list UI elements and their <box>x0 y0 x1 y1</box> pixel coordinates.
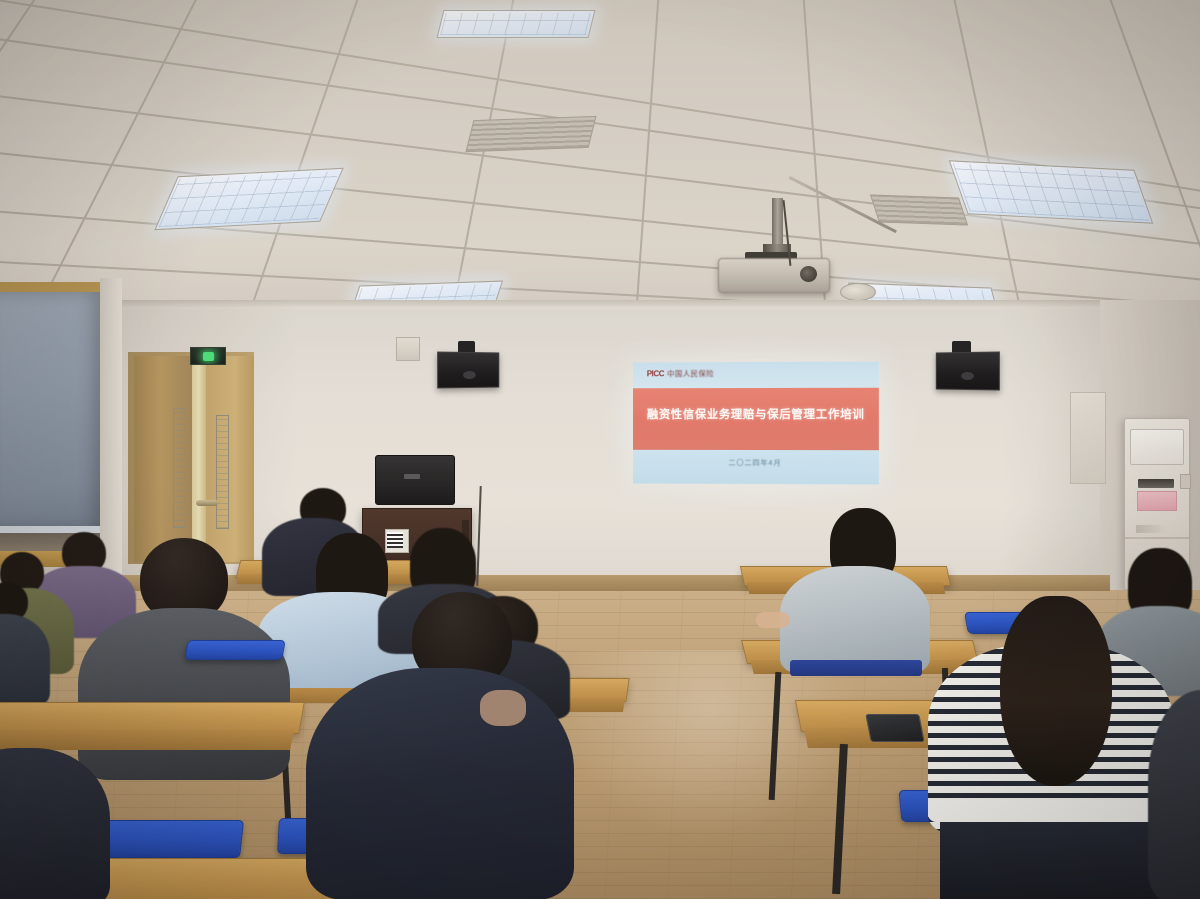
wall-panel-right <box>1070 392 1106 484</box>
air-conditioner-display <box>1138 479 1174 488</box>
smoke-detector-icon <box>840 283 876 301</box>
hair <box>1000 596 1112 786</box>
qr-code-icon <box>387 532 403 548</box>
lectern-monitor <box>375 455 455 505</box>
ceiling-light-panel-5 <box>437 10 596 38</box>
picc-logo-text: 中国人民保险 <box>667 368 714 379</box>
emergency-exit-sign-icon <box>190 347 226 365</box>
picc-logo-mark: PICC <box>647 369 664 378</box>
ceiling-vent-1 <box>870 194 968 225</box>
wall-speaker-left <box>437 352 499 389</box>
door-glass-panel-right <box>216 415 229 529</box>
door-handle[interactable] <box>196 500 218 506</box>
monitor-logo <box>404 474 420 479</box>
torso <box>780 566 930 674</box>
torso <box>78 608 290 780</box>
ear-neck <box>480 690 526 726</box>
chair-behind <box>790 660 922 676</box>
door-glass-panel-left <box>173 408 186 528</box>
projection-screen-slide: PICC 中国人民保险 融资性信保业务理赔与保后管理工作培训 二〇二四年4月 <box>633 362 879 485</box>
projector-lens-icon <box>800 266 817 282</box>
wall-column-left <box>100 278 122 578</box>
sweater-hem <box>928 800 1174 822</box>
wall-speaker-right <box>936 351 1000 390</box>
air-conditioner-label <box>1137 491 1177 511</box>
chair-left-back[interactable] <box>184 640 286 660</box>
window-blind-left[interactable] <box>0 292 100 530</box>
air-conditioner-button[interactable] <box>1180 474 1191 489</box>
ceiling <box>0 0 1200 330</box>
ceiling-light-panel-1 <box>154 168 343 230</box>
projector-mount-pole <box>772 198 783 250</box>
door-leaf-right[interactable] <box>206 356 254 562</box>
ceiling-vent-2 <box>465 116 596 152</box>
slide-title-text: 融资性信保业务理赔与保后管理工作培训 <box>633 406 879 422</box>
desk-front-foreground-left <box>0 730 294 750</box>
air-conditioner-vent <box>1130 429 1184 465</box>
wall-mounted-box <box>396 337 420 361</box>
air-conditioner-logo <box>1136 525 1166 533</box>
torso <box>306 668 574 899</box>
ceiling-light-panel-4 <box>949 160 1154 223</box>
tablet-device[interactable] <box>865 714 924 742</box>
hand <box>756 612 790 628</box>
classroom-photo-scene: PICC 中国人民保险 融资性信保业务理赔与保后管理工作培训 二〇二四年4月 <box>0 0 1200 899</box>
slide-date-text: 二〇二四年4月 <box>633 458 879 469</box>
lower-body <box>940 822 1170 899</box>
picc-logo: PICC 中国人民保险 <box>647 368 714 379</box>
door-mullion <box>192 354 206 562</box>
